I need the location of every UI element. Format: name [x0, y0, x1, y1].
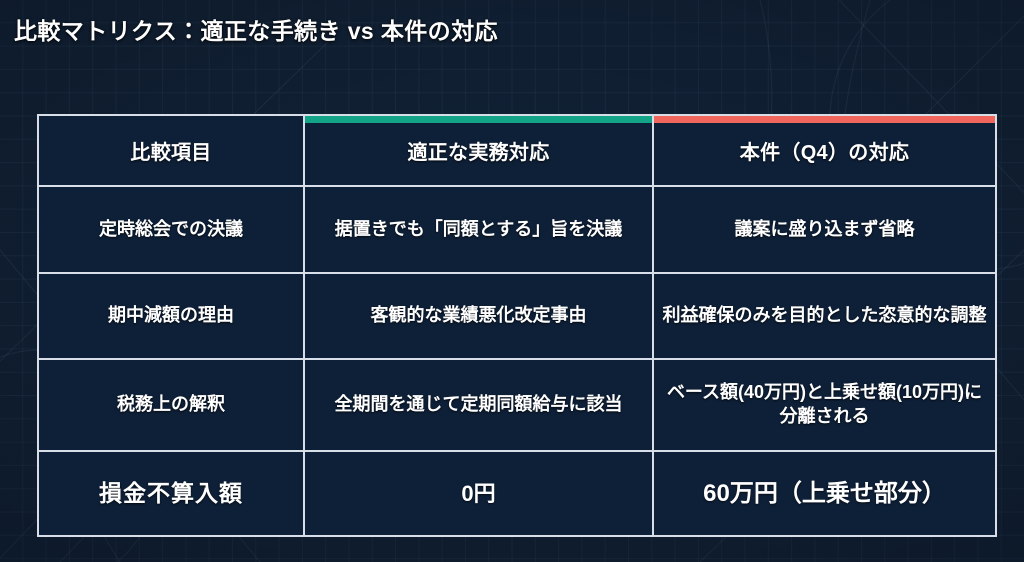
slide-canvas: 比較マトリクス：適正な手続き vs 本件の対応 比較項目 適正な実務対応 本件（…: [0, 0, 1024, 562]
row-label: 定時総会での決議: [38, 186, 304, 273]
comparison-matrix-table: 比較項目 適正な実務対応 本件（Q4）の対応 定時総会での決議 据置きでも「同額…: [37, 114, 997, 537]
row-proper-practice: 据置きでも「同額とする」旨を決議: [304, 186, 653, 273]
table-row-total: 損金不算入額 0円 60万円（上乗せ部分）: [38, 451, 996, 536]
total-proper-practice-value: 0円: [304, 451, 653, 536]
table-row: 期中減額の理由 客観的な業績悪化改定事由 利益確保のみを目的とした恣意的な調整: [38, 273, 996, 359]
row-proper-practice: 全期間を通じて定期同額給与に該当: [304, 359, 653, 451]
row-this-case: ベース額(40万円)と上乗せ額(10万円)に分離される: [653, 359, 996, 451]
total-this-case-value: 60万円（上乗せ部分）: [653, 451, 996, 536]
table-row: 定時総会での決議 据置きでも「同額とする」旨を決議 議案に盛り込まず省略: [38, 186, 996, 273]
column-header-item: 比較項目: [38, 115, 304, 186]
row-this-case: 利益確保のみを目的とした恣意的な調整: [653, 273, 996, 359]
column-header-this-case: 本件（Q4）の対応: [653, 115, 996, 186]
table-row: 税務上の解釈 全期間を通じて定期同額給与に該当 ベース額(40万円)と上乗せ額(…: [38, 359, 996, 451]
total-row-label: 損金不算入額: [38, 451, 304, 536]
row-proper-practice: 客観的な業績悪化改定事由: [304, 273, 653, 359]
page-title: 比較マトリクス：適正な手続き vs 本件の対応: [14, 12, 498, 46]
table-header-row: 比較項目 適正な実務対応 本件（Q4）の対応: [38, 115, 996, 186]
row-this-case: 議案に盛り込まず省略: [653, 186, 996, 273]
row-label: 期中減額の理由: [38, 273, 304, 359]
column-header-proper-practice: 適正な実務対応: [304, 115, 653, 186]
row-label: 税務上の解釈: [38, 359, 304, 451]
